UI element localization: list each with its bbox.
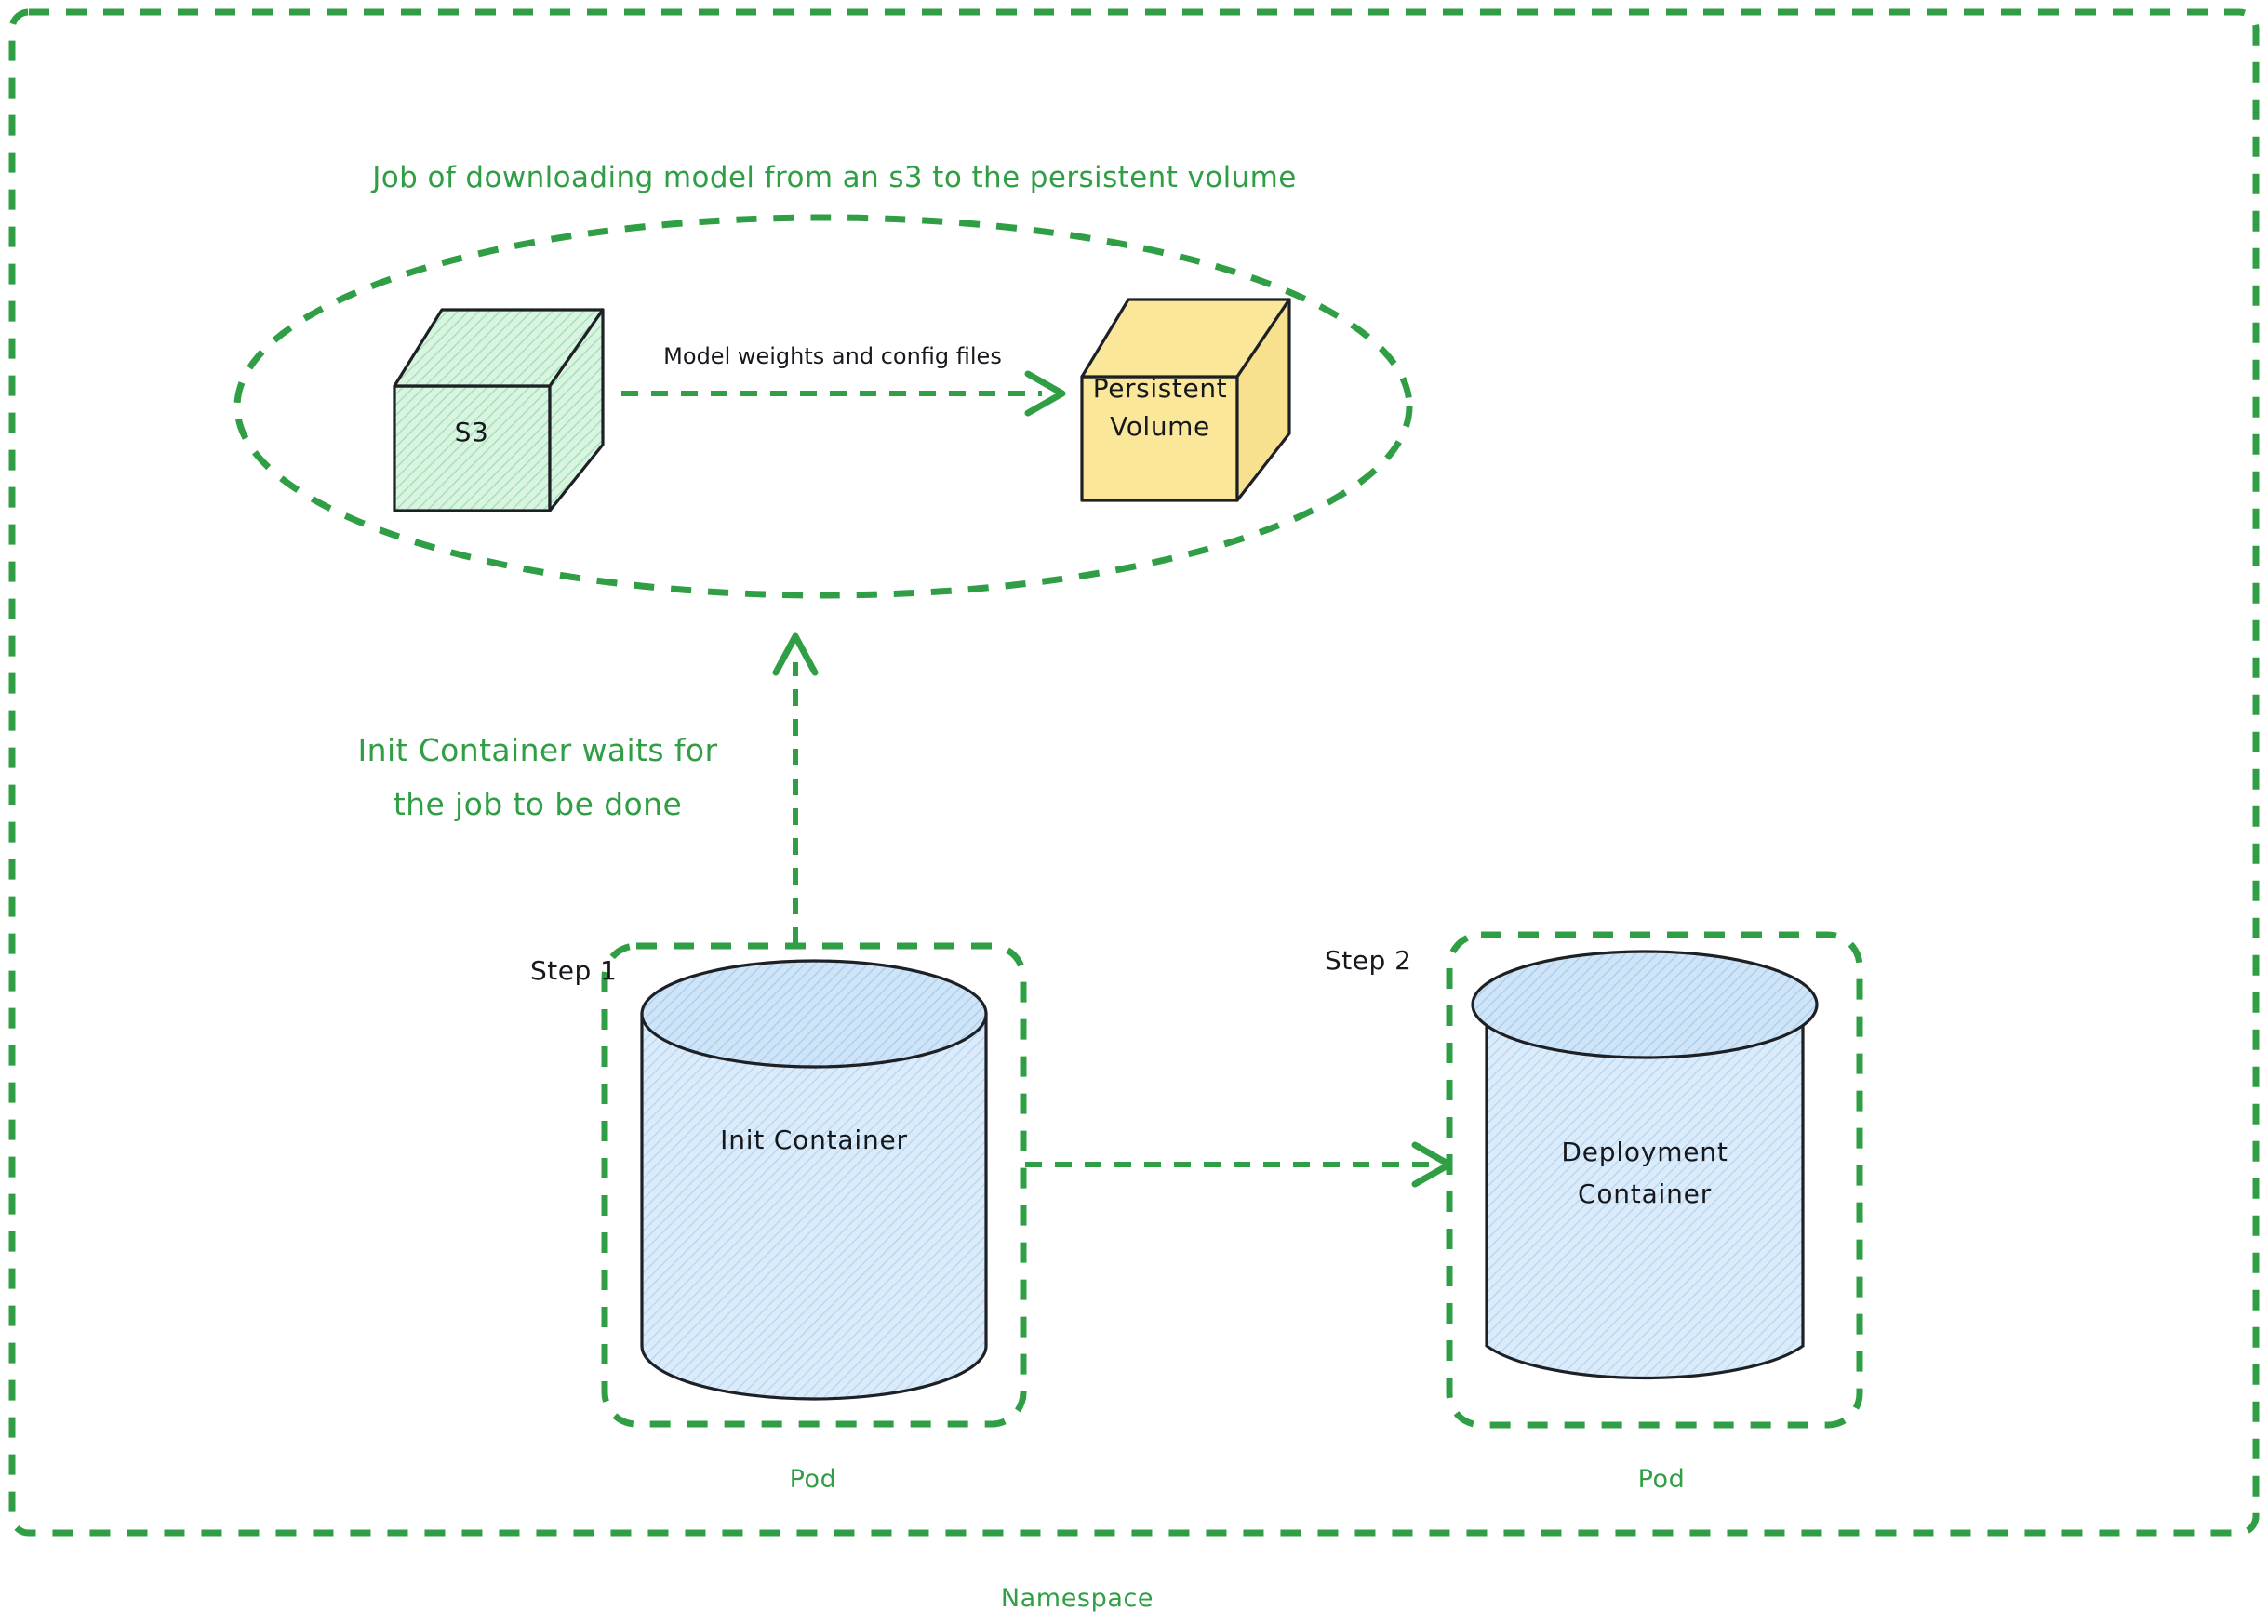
deployment-container-label-line1: Deployment [1561,1137,1728,1167]
s3-cube-front-face [394,386,550,511]
pv-cube-label-line1: Persistent [1093,373,1228,404]
pv-cube-label-line2: Volume [1110,411,1210,442]
deployment-container-top [1473,952,1817,1058]
namespace-label: Namespace [1001,1584,1154,1613]
init-container-body [642,1014,986,1399]
pod-step-2-label: Pod [1638,1465,1686,1494]
diagram-canvas: S3 Persistent Volume Model weights and c… [0,0,2268,1624]
diagram-svg: S3 Persistent Volume Model weights and c… [0,0,2268,1624]
deployment-container-label-line2: Container [1578,1178,1712,1209]
wait-annotation-line1: Init Container waits for [358,732,718,768]
init-container-top [642,961,986,1067]
init-container-label: Init Container [720,1125,908,1155]
wait-annotation-line2: the job to be done [394,786,682,822]
job-annotation-text: Job of downloading model from an s3 to t… [370,161,1297,194]
s3-cube-label: S3 [455,417,489,447]
namespace-boundary [12,12,2256,1533]
edge-s3-to-pv-label: Model weights and config files [663,343,1002,369]
step-2-label: Step 2 [1325,945,1411,976]
s3-cube [394,310,603,511]
pod-step-1-label: Pod [790,1465,837,1494]
edge-s3-to-pv-arrowhead [1028,374,1062,413]
step-1-label: Step 1 [530,955,617,986]
init-container-cylinder [642,961,986,1399]
